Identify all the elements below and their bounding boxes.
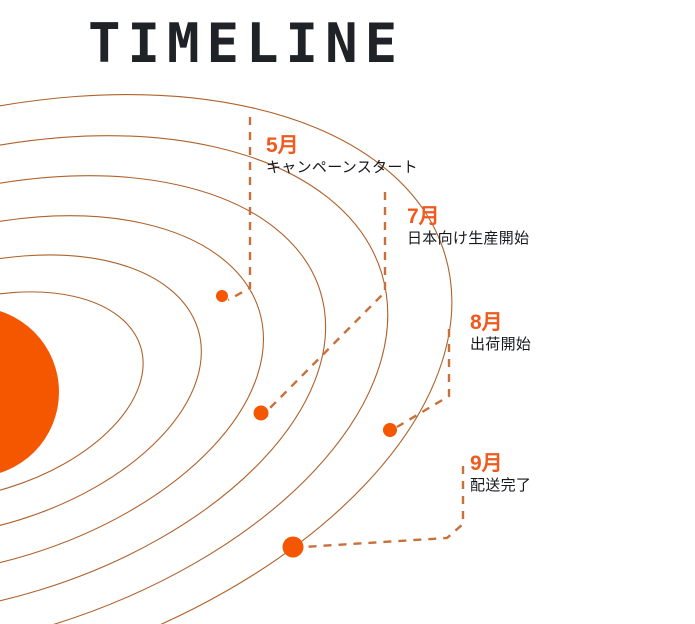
connector-july (268, 192, 385, 410)
connector-september (303, 466, 463, 547)
sun-circle (0, 307, 59, 477)
milestone-label-may: 5月 キャンペーンスタート (266, 134, 418, 178)
connector-may (228, 117, 250, 300)
orbit-ring-6 (0, 0, 526, 624)
milestone-dot-may[interactable] (216, 290, 228, 302)
milestone-dot-september[interactable] (283, 537, 304, 558)
milestone-dot-august[interactable] (383, 423, 397, 437)
orbit-diagram (0, 0, 695, 624)
orbit-rings (0, 0, 526, 624)
milestone-description-may: キャンペーンスタート (266, 159, 418, 178)
timeline-infographic: TIMELINE 5月 キャンペーン (0, 0, 695, 624)
milestone-label-september: 9月 配送完了 (470, 452, 531, 496)
orbit-ring-5 (0, 44, 452, 624)
milestone-description-august: 出荷開始 (470, 336, 531, 355)
milestone-dots (216, 290, 397, 558)
milestone-month-july: 7月 (407, 205, 529, 228)
milestone-description-september: 配送完了 (470, 477, 531, 496)
milestone-label-july: 7月 日本向け生産開始 (407, 205, 529, 249)
milestone-description-july: 日本向け生産開始 (407, 230, 529, 249)
milestone-label-august: 8月 出荷開始 (470, 311, 531, 355)
milestone-month-august: 8月 (470, 311, 531, 334)
milestone-dot-july[interactable] (254, 406, 269, 421)
milestone-month-may: 5月 (266, 134, 418, 157)
milestone-month-september: 9月 (470, 452, 531, 475)
connector-august (397, 329, 449, 427)
